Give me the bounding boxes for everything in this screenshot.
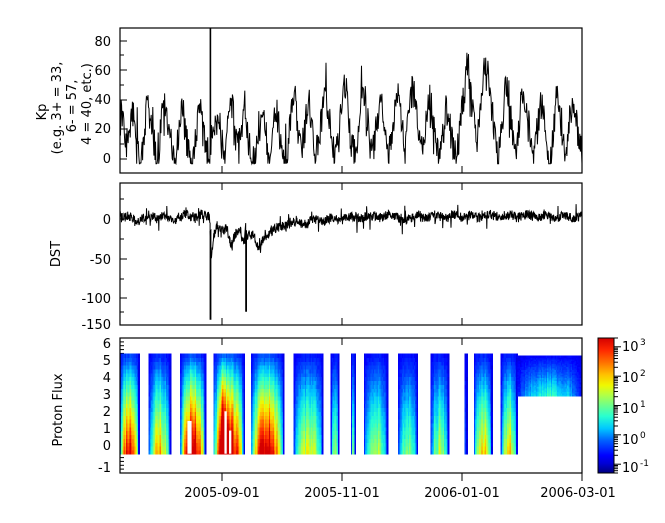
heatmap-cell: [387, 377, 389, 381]
heatmap-cell: [283, 361, 285, 365]
heatmap-cell: [416, 450, 418, 454]
heatmap-cell: [283, 415, 285, 419]
heatmap-cell: [170, 353, 172, 357]
kp-ylabel-line-3: 6- = 57,: [65, 80, 80, 133]
heatmap-cell: [243, 427, 245, 431]
heatmap-cell: [170, 365, 172, 369]
heatmap-cell: [170, 438, 172, 442]
heatmap-cell: [322, 407, 324, 411]
heatmap-cell: [387, 369, 389, 373]
heatmap-cell: [243, 446, 245, 450]
heatmap-cell: [283, 388, 285, 392]
heatmap-cell: [322, 353, 324, 357]
heatmap-cell: [416, 384, 418, 388]
heatmap-cell: [416, 365, 418, 369]
heatmap-cell: [138, 384, 140, 388]
heatmap-cell: [138, 434, 140, 438]
heatmap-cell: [170, 411, 172, 415]
pf-ytick-0: 0: [103, 439, 111, 454]
heatmap-cell: [448, 442, 450, 446]
heatmap-cell: [205, 427, 207, 431]
heatmap-cell: [448, 419, 450, 423]
heatmap-cell: [138, 396, 140, 400]
heatmap-cell: [138, 400, 140, 404]
heatmap-cell: [170, 423, 172, 427]
kp-ytick-20: 20: [94, 122, 111, 137]
heatmap-cell: [283, 353, 285, 357]
heatmap-cell: [138, 442, 140, 446]
heatmap-cell: [322, 415, 324, 419]
heatmap-cell: [387, 396, 389, 400]
heatmap-cell: [354, 353, 356, 357]
heatmap-cell: [338, 357, 340, 361]
heatmap-cell: [170, 384, 172, 388]
heatmap-cell: [243, 353, 245, 357]
heatmap-cell: [170, 361, 172, 365]
heatmap-cell: [338, 438, 340, 442]
heatmap-cell: [416, 446, 418, 450]
plot-figure: Kp (e.g. 3+ = 33, 6- = 57, 4 = 40, etc.)…: [0, 0, 665, 523]
heatmap-cell: [354, 361, 356, 365]
heatmap-cell: [283, 380, 285, 384]
heatmap-cell: [243, 438, 245, 442]
heatmap-cell: [448, 446, 450, 450]
heatmap-cell: [448, 411, 450, 415]
heatmap-cell: [138, 407, 140, 411]
heatmap-cell: [448, 407, 450, 411]
heatmap-cell: [416, 396, 418, 400]
heatmap-cell: [322, 388, 324, 392]
heatmap-cell: [416, 427, 418, 431]
heatmap-cell: [243, 396, 245, 400]
heatmap-cell: [322, 423, 324, 427]
heatmap-cell: [138, 361, 140, 365]
heatmap-cell: [283, 369, 285, 373]
heatmap-cell: [416, 357, 418, 361]
heatmap-cell: [416, 404, 418, 408]
heatmap-cell: [448, 400, 450, 404]
heatmap-cell: [138, 450, 140, 454]
heatmap-cell: [354, 411, 356, 415]
heatmap-cell: [170, 404, 172, 408]
heatmap-cell: [354, 369, 356, 373]
heatmap-cell: [243, 415, 245, 419]
heatmap-cell: [283, 373, 285, 377]
heatmap-cell: [354, 377, 356, 381]
heatmap-cell: [322, 392, 324, 396]
heatmap-cell: [243, 361, 245, 365]
heatmap-cell: [205, 369, 207, 373]
heatmap-cell: [338, 423, 340, 427]
heatmap-cell: [205, 431, 207, 435]
heatmap-cell: [138, 353, 140, 357]
heatmap-cell: [354, 384, 356, 388]
heatmap-cell: [416, 438, 418, 442]
heatmap-cell: [338, 361, 340, 365]
heatmap-cell: [387, 380, 389, 384]
heatmap-cell: [170, 396, 172, 400]
heatmap-cell: [322, 400, 324, 404]
heatmap-cell: [354, 434, 356, 438]
heatmap-cell: [243, 388, 245, 392]
proton-flux-ylabel: Proton Flux: [51, 373, 66, 446]
heatmap-cell: [243, 404, 245, 408]
heatmap-cell: [205, 365, 207, 369]
heatmap-cell: [387, 361, 389, 365]
heatmap-cell: [448, 450, 450, 454]
heatmap-cell: [416, 423, 418, 427]
heatmap-cell: [322, 434, 324, 438]
heatmap-cell: [338, 434, 340, 438]
heatmap-cell: [138, 357, 140, 361]
heatmap-cell: [283, 431, 285, 435]
heatmap-cell: [387, 392, 389, 396]
kp-ylabel-line-4: 4 = 40, etc.): [80, 63, 95, 145]
heatmap-cell: [322, 419, 324, 423]
heatmap-cell: [322, 365, 324, 369]
heatmap-cell: [354, 419, 356, 423]
heatmap-cell: [138, 438, 140, 442]
heatmap-cell: [338, 365, 340, 369]
heatmap-cell: [170, 431, 172, 435]
heatmap-cell: [416, 442, 418, 446]
heatmap-cell: [322, 442, 324, 446]
heatmap-cell: [283, 438, 285, 442]
heatmap-cell: [205, 357, 207, 361]
kp-ytick-40: 40: [94, 93, 111, 108]
heatmap-cell: [322, 373, 324, 377]
heatmap-cell: [243, 365, 245, 369]
heatmap-cell: [205, 450, 207, 454]
heatmap-cell: [338, 415, 340, 419]
heatmap-cell: [448, 427, 450, 431]
heatmap-cell: [338, 419, 340, 423]
heatmap-cell: [322, 380, 324, 384]
heatmap-cell: [387, 442, 389, 446]
heatmap-cell: [448, 392, 450, 396]
heatmap-cell: [205, 377, 207, 381]
heatmap-cell: [338, 384, 340, 388]
heatmap-cell: [354, 423, 356, 427]
heatmap-cell: [283, 407, 285, 411]
heatmap-cell: [322, 357, 324, 361]
heatmap-cell: [416, 380, 418, 384]
heatmap-cell: [387, 353, 389, 357]
proton-flux-heatmap: [120, 353, 582, 454]
kp-ylabel-line-1: Kp: [35, 104, 50, 121]
heatmap-cell: [322, 411, 324, 415]
heatmap-cell: [338, 373, 340, 377]
heatmap-cell: [138, 392, 140, 396]
heatmap-cell: [170, 434, 172, 438]
heatmap-cell: [387, 373, 389, 377]
heatmap-cell: [205, 438, 207, 442]
heatmap-cell: [205, 411, 207, 415]
heatmap-cell: [387, 415, 389, 419]
pf-ytick-6: 6: [103, 337, 111, 352]
heatmap-cell: [416, 377, 418, 381]
heatmap-cell: [387, 423, 389, 427]
heatmap-cell: [138, 380, 140, 384]
heatmap-cell: [338, 431, 340, 435]
heatmap-cell: [138, 404, 140, 408]
heatmap-cell: [243, 392, 245, 396]
heatmap-cell: [243, 357, 245, 361]
heatmap-cell: [205, 419, 207, 423]
heatmap-cell: [205, 392, 207, 396]
heatmap-cell: [387, 404, 389, 408]
heatmap-cell: [283, 411, 285, 415]
heatmap-cell: [338, 396, 340, 400]
heatmap-cell: [416, 361, 418, 365]
heatmap-cell: [416, 431, 418, 435]
heatmap-cell: [416, 353, 418, 357]
dst-ytick-m100: -100: [81, 292, 111, 307]
heatmap-cell: [205, 388, 207, 392]
heatmap-cell: [205, 384, 207, 388]
heatmap-cell: [170, 446, 172, 450]
heatmap-cell: [138, 411, 140, 415]
heatmap-cell: [416, 400, 418, 404]
heatmap-cell: [170, 369, 172, 373]
heatmap-cell: [354, 407, 356, 411]
heatmap-cell: [322, 377, 324, 381]
heatmap-cell: [354, 431, 356, 435]
heatmap-cell: [387, 357, 389, 361]
heatmap-cell: [448, 415, 450, 419]
heatmap-cell: [322, 404, 324, 408]
heatmap-cell: [338, 353, 340, 357]
kp-ytick-0: 0: [103, 152, 111, 167]
heatmap-cell: [322, 361, 324, 365]
heatmap-cell: [338, 427, 340, 431]
heatmap-cell: [387, 411, 389, 415]
heatmap-cell: [416, 369, 418, 373]
heatmap-cell: [387, 434, 389, 438]
heatmap-cell: [448, 438, 450, 442]
pf-ytick-2: 2: [103, 405, 111, 420]
dst-ytick-m50: -50: [90, 253, 111, 268]
heatmap-cell: [283, 442, 285, 446]
heatmap-cell: [138, 419, 140, 423]
heatmap-cell: [138, 377, 140, 381]
heatmap-cell: [283, 365, 285, 369]
heatmap-cell: [283, 423, 285, 427]
heatmap-cell: [205, 361, 207, 365]
heatmap-cell: [170, 380, 172, 384]
heatmap-cell: [243, 377, 245, 381]
heatmap-cell: [338, 380, 340, 384]
heatmap-cell: [205, 380, 207, 384]
heatmap-cell: [338, 400, 340, 404]
heatmap-cell: [205, 373, 207, 377]
heatmap-cell: [243, 442, 245, 446]
heatmap-cell: [170, 388, 172, 392]
heatmap-cell: [387, 384, 389, 388]
heatmap-cell: [416, 407, 418, 411]
heatmap-cell: [448, 434, 450, 438]
heatmap-cell: [416, 373, 418, 377]
heatmap-cell: [448, 431, 450, 435]
heatmap-cell: [138, 446, 140, 450]
heatmap-cell: [205, 353, 207, 357]
heatmap-cell: [354, 446, 356, 450]
heatmap-cell: [448, 423, 450, 427]
heatmap-cell: [338, 404, 340, 408]
heatmap-cell: [205, 396, 207, 400]
heatmap-cell: [354, 404, 356, 408]
heatmap-cell: [283, 357, 285, 361]
heatmap-cell: [387, 419, 389, 423]
heatmap-cell: [387, 388, 389, 392]
heatmap-cell: [338, 446, 340, 450]
heatmap-cell: [205, 423, 207, 427]
dst-ytick-m150: -150: [81, 318, 111, 333]
heatmap-cell: [387, 407, 389, 411]
heatmap-cell: [170, 450, 172, 454]
heatmap-cell: [322, 446, 324, 450]
pf-ytick-3: 3: [103, 388, 111, 403]
heatmap-cell: [354, 357, 356, 361]
heatmap-cell: [243, 400, 245, 404]
heatmap-cell: [387, 431, 389, 435]
heatmap-cell: [205, 400, 207, 404]
heatmap-cell: [205, 415, 207, 419]
heatmap-cell: [205, 434, 207, 438]
heatmap-cell: [138, 423, 140, 427]
heatmap-cell: [283, 419, 285, 423]
heatmap-cell: [170, 373, 172, 377]
heatmap-cell: [338, 377, 340, 381]
heatmap-cell: [322, 450, 324, 454]
heatmap-cell: [205, 407, 207, 411]
heatmap-cell: [283, 396, 285, 400]
heatmap-cell: [338, 411, 340, 415]
heatmap-cell: [283, 446, 285, 450]
heatmap-cell: [243, 411, 245, 415]
heatmap-cell: [243, 431, 245, 435]
heatmap-cell: [283, 434, 285, 438]
heatmap-cell: [354, 438, 356, 442]
heatmap-cell: [338, 450, 340, 454]
heatmap-cell: [416, 419, 418, 423]
heatmap-cell: [243, 380, 245, 384]
heatmap-cell: [416, 411, 418, 415]
heatmap-cell: [387, 427, 389, 431]
heatmap-cell: [243, 423, 245, 427]
heatmap-cell: [170, 427, 172, 431]
heatmap-cell: [205, 446, 207, 450]
heatmap-cell: [243, 373, 245, 377]
heatmap-cell: [283, 450, 285, 454]
heatmap-cell: [416, 415, 418, 419]
heatmap-cell: [338, 442, 340, 446]
heatmap-cell: [243, 384, 245, 388]
heatmap-cell: [243, 419, 245, 423]
heatmap-cell: [283, 427, 285, 431]
heatmap-cell: [387, 446, 389, 450]
heatmap-cell: [338, 388, 340, 392]
heatmap-cell: [416, 392, 418, 396]
heatmap-cell: [170, 377, 172, 381]
heatmap-cell: [205, 404, 207, 408]
heatmap-cell: [354, 442, 356, 446]
heatmap-cell: [138, 365, 140, 369]
heatmap-cell: [170, 419, 172, 423]
kp-ylabel-line-2: (e.g. 3+ = 33,: [50, 62, 65, 155]
heatmap-cell: [354, 427, 356, 431]
heatmap-cell: [354, 365, 356, 369]
heatmap-cell: [354, 388, 356, 392]
heatmap-cell: [322, 438, 324, 442]
heatmap-cell: [387, 450, 389, 454]
heatmap-cell: [243, 407, 245, 411]
heatmap-cell: [283, 384, 285, 388]
heatmap-cell: [170, 442, 172, 446]
heatmap-cell: [387, 438, 389, 442]
heatmap-cell: [322, 369, 324, 373]
heatmap-cell: [170, 407, 172, 411]
heatmap-cell: [354, 450, 356, 454]
pf-ytick-4: 4: [103, 371, 111, 386]
heatmap-cell: [387, 400, 389, 404]
heatmap-cell: [387, 365, 389, 369]
heatmap-cell: [138, 373, 140, 377]
heatmap-cell: [354, 380, 356, 384]
heatmap-cell: [322, 396, 324, 400]
heatmap-cell: [338, 369, 340, 373]
pf-ytick-5: 5: [103, 354, 111, 369]
heatmap-cell: [170, 400, 172, 404]
heatmap-cell: [205, 442, 207, 446]
heatmap-cell: [338, 407, 340, 411]
heatmap-cell: [138, 388, 140, 392]
heatmap-cell: [322, 427, 324, 431]
heatmap-cell: [170, 357, 172, 361]
dst-ylabel: DST: [49, 241, 64, 267]
heatmap-cell: [138, 427, 140, 431]
heatmap-cell: [170, 415, 172, 419]
heatmap-cell: [416, 434, 418, 438]
heatmap-cell: [243, 369, 245, 373]
heatmap-cell: [338, 392, 340, 396]
heatmap-cell: [283, 404, 285, 408]
heatmap-cell: [416, 388, 418, 392]
heatmap-cell: [354, 373, 356, 377]
dst-ytick-0: 0: [103, 213, 111, 228]
heatmap-cell: [354, 415, 356, 419]
heatmap-cell: [322, 384, 324, 388]
heatmap-cell: [283, 377, 285, 381]
heatmap-cell: [138, 431, 140, 435]
heatmap-cell: [138, 415, 140, 419]
heatmap-cell: [354, 392, 356, 396]
heatmap-cell: [354, 400, 356, 404]
pf-ytick-1: 1: [103, 422, 111, 437]
kp-ytick-80: 80: [94, 35, 111, 50]
heatmap-cell: [138, 369, 140, 373]
heatmap-cell: [448, 404, 450, 408]
heatmap-cell: [243, 434, 245, 438]
heatmap-cell: [283, 392, 285, 396]
pf-ytick-m1: -1: [98, 461, 111, 476]
multi-panel-timeseries-figure: Kp (e.g. 3+ = 33, 6- = 57, 4 = 40, etc.)…: [0, 0, 665, 523]
heatmap-cell: [170, 392, 172, 396]
heatmap-cell: [243, 450, 245, 454]
heatmap-cell: [283, 400, 285, 404]
heatmap-cell: [448, 396, 450, 400]
heatmap-cell: [354, 396, 356, 400]
